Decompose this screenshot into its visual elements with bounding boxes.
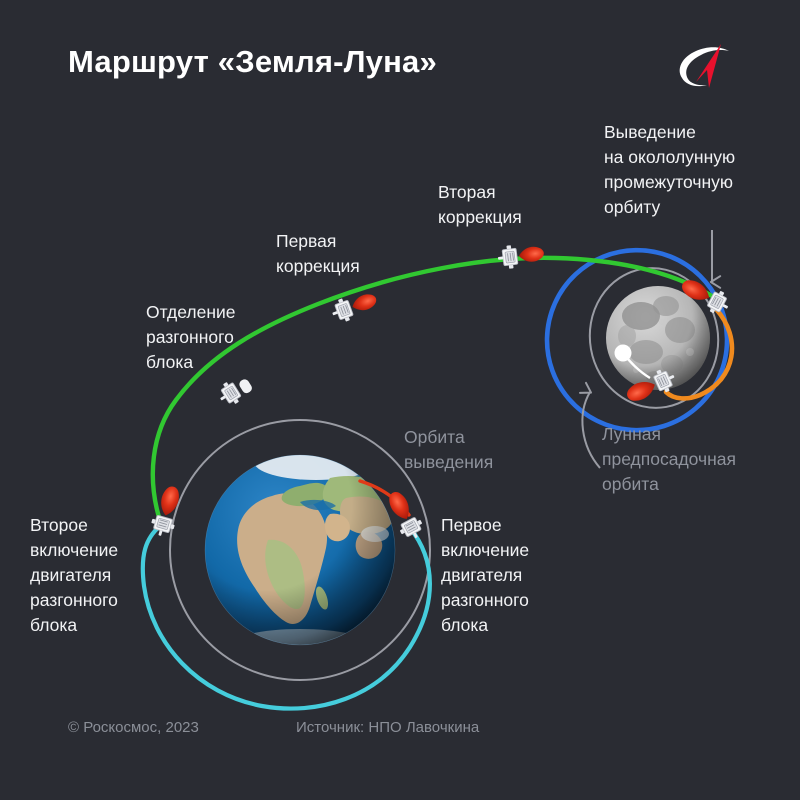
roscosmos-logo	[676, 40, 740, 92]
label-lunar-prelanding-orbit: Лунная предпосадочная орбита	[602, 422, 736, 497]
logo-swoosh	[680, 47, 729, 86]
landing-site-dot	[615, 345, 632, 362]
label-launch-orbit: Орбита выведения	[404, 425, 493, 475]
earth-group	[205, 444, 395, 661]
arrow-prelanding-orbit	[582, 392, 600, 468]
spacecraft-second-correction	[497, 241, 545, 270]
label-upper-stage-separation: Отделение разгонного блока	[146, 300, 236, 375]
source-text: Источник: НПО Лавочкина	[296, 719, 479, 736]
label-second-engine-burn: Второе включение двигателя разгонного бл…	[30, 513, 118, 638]
spacecraft-separation	[215, 372, 255, 409]
label-lunar-injection: Выведение на окололунную промежуточную о…	[604, 120, 735, 220]
copyright-text: © Роскосмос, 2023	[68, 719, 199, 736]
page-title: Маршрут «Земля-Луна»	[68, 44, 437, 80]
label-second-correction: Вторая коррекция	[438, 180, 522, 230]
label-first-correction: Первая коррекция	[276, 229, 360, 279]
label-first-engine-burn: Первое включение двигателя разгонного бл…	[441, 513, 529, 638]
infographic-canvas: Маршрут «Земля-Луна» Выведение на околол…	[0, 0, 800, 800]
separated-upper-stage	[238, 378, 254, 395]
